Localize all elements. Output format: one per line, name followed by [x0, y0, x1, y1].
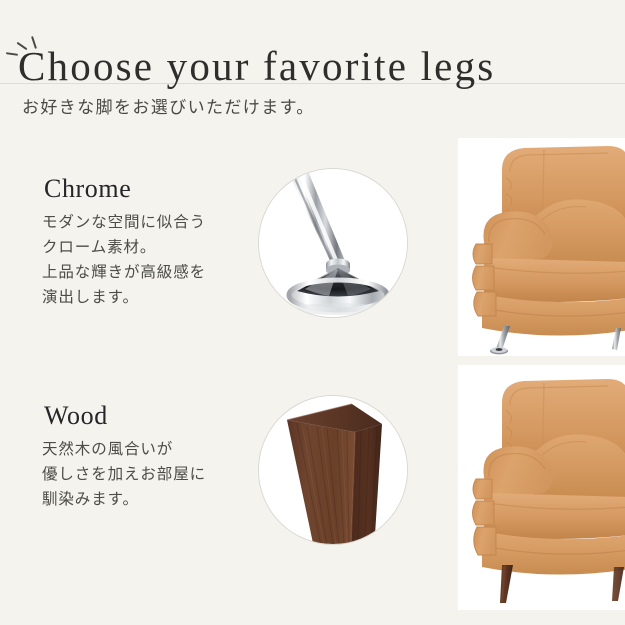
page-root: Choose your favorite legs お好きな脚をお選びいただけま… — [0, 0, 625, 625]
wood-leg-icon — [259, 396, 408, 545]
feature-line: クローム素材。 — [42, 235, 206, 260]
feature-line: 上品な輝きが高級感を — [42, 260, 206, 285]
chrome-leg-icon — [259, 169, 408, 318]
page-subtitle: お好きな脚をお選びいただけます。 — [22, 97, 315, 119]
page-title: Choose your favorite legs — [18, 46, 495, 87]
sofa-wood-photo — [458, 365, 625, 610]
feature-description-chrome: モダンな空間に似合う クローム素材。 上品な輝きが高級感を 演出します。 — [42, 210, 206, 310]
feature-heading-wood: Wood — [44, 401, 108, 431]
feature-line: 天然木の風合いが — [42, 437, 206, 462]
feature-line: 馴染みます。 — [42, 487, 206, 512]
feature-line: 優しさを加えお部屋に — [42, 462, 206, 487]
feature-line: 演出します。 — [42, 285, 206, 310]
feature-line: モダンな空間に似合う — [42, 210, 206, 235]
sofa-with-wood-leg-photo — [458, 365, 625, 610]
feature-description-wood: 天然木の風合いが 優しさを加えお部屋に 馴染みます。 — [42, 437, 206, 512]
sofa-chrome-photo — [458, 138, 625, 356]
sofa-with-chrome-leg-photo — [458, 138, 625, 356]
feature-heading-chrome: Chrome — [44, 174, 131, 204]
chrome-leg-swatch — [258, 168, 408, 318]
wood-leg-swatch — [258, 395, 408, 545]
